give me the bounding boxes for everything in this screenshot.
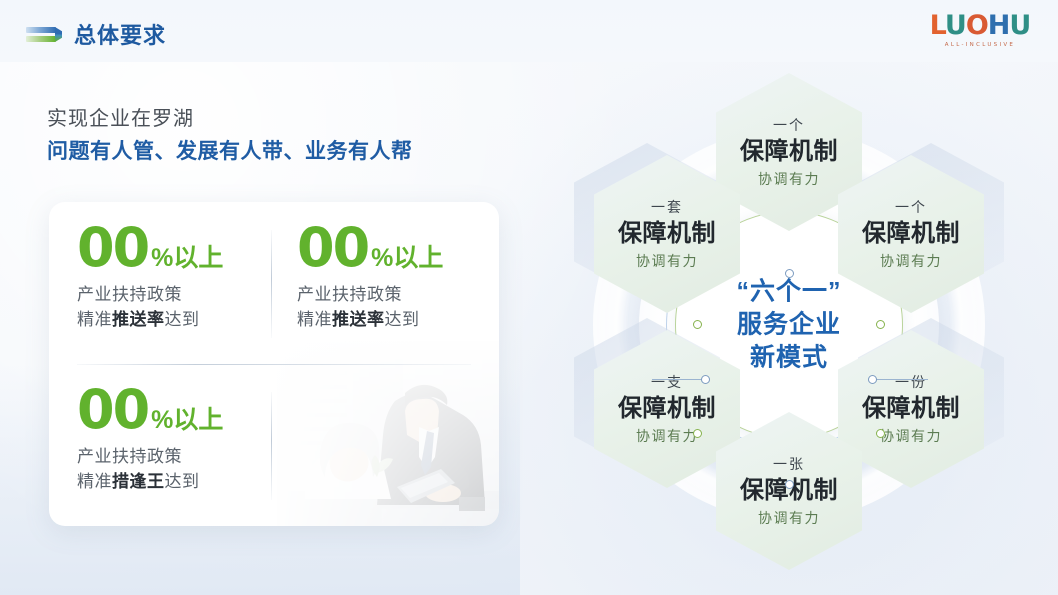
center-label-line1: “六个一”: [736, 276, 841, 309]
connector-dot-bottom: [785, 480, 794, 489]
hexagon-prefix: 一个: [773, 116, 805, 135]
hexagon-title: 保障机制: [862, 393, 960, 425]
stat-unit: %以上: [371, 244, 443, 272]
stat-desc-emphasis: 推送率: [112, 310, 165, 329]
stat-description-line1: 产业扶持政策: [77, 444, 223, 469]
connector-line-left: [652, 379, 704, 380]
stats-divider-horizontal: [77, 364, 471, 365]
business-consultation-photo: [277, 341, 499, 526]
stat-number: 00: [77, 224, 148, 272]
gradient-bar-arrow-tip: [55, 27, 62, 42]
stat-desc-prefix: 精准: [297, 310, 332, 329]
hexagon-prefix: 一套: [651, 198, 683, 217]
diagram-center-label: “六个一” 服务企业 新模式: [736, 276, 841, 375]
stat-description-line1: 产业扶持政策: [77, 282, 223, 307]
stat-unit: %以上: [151, 406, 223, 434]
stat-description: 产业扶持政策 精准推送率达到: [297, 282, 443, 332]
page-title: 总体要求: [74, 18, 166, 50]
hexagon-title: 保障机制: [618, 393, 716, 425]
hexagon-title: 保障机制: [618, 218, 716, 250]
stat-description-line1: 产业扶持政策: [297, 282, 443, 307]
center-label-line3: 新模式: [736, 342, 841, 375]
headline-main: 问题有人管、发展有人带、业务有人帮: [47, 136, 413, 168]
headline-block: 实现企业在罗湖 问题有人管、发展有人带、业务有人帮: [47, 104, 413, 168]
hexagon-subtitle: 协调有力: [636, 427, 698, 446]
stat-value-row: 00 %以上: [77, 386, 223, 434]
stat-value-row: 00 %以上: [77, 224, 223, 272]
stat-desc-prefix: 精准: [77, 310, 112, 329]
stat-desc-emphasis: 推送率: [332, 310, 385, 329]
stat-number: 00: [297, 224, 368, 272]
stats-divider-vertical-top: [271, 230, 272, 338]
connector-dot-top-left: [693, 320, 702, 329]
logo-letter-2: U: [945, 10, 966, 41]
hexagon-prefix: 一份: [895, 373, 927, 392]
connector-dot-bottom-left: [693, 429, 702, 438]
stat-description-line2: 精准措逢王达到: [77, 469, 223, 494]
hexagon-subtitle: 协调有力: [758, 509, 820, 528]
stat-desc-emphasis: 措逢王: [112, 472, 165, 491]
connector-dot-top: [785, 269, 794, 278]
logo-letter-1: L: [930, 10, 945, 41]
hexagon-title: 保障机制: [862, 218, 960, 250]
stat-desc-prefix: 精准: [77, 472, 112, 491]
hexagon-subtitle: 协调有力: [880, 252, 942, 271]
hexagon-prefix: 一个: [895, 198, 927, 217]
hexagon-title: 保障机制: [740, 136, 838, 168]
luohu-logo: LUOHU ALL-INCLUSIVE: [924, 12, 1036, 52]
stat-description: 产业扶持政策 精准推送率达到: [77, 282, 223, 332]
logo-letter-3: O: [966, 10, 988, 41]
headline-subtitle: 实现企业在罗湖: [47, 104, 413, 134]
gradient-bar-top: [26, 27, 56, 33]
hexagon-subtitle: 协调有力: [880, 427, 942, 446]
stat-desc-suffix: 达到: [165, 310, 200, 329]
hexagon-subtitle: 协调有力: [758, 170, 820, 189]
connector-dot-bottom-right: [876, 429, 885, 438]
stat-item: 00 %以上 产业扶持政策 精准推送率达到: [297, 224, 443, 332]
hexagon-subtitle: 协调有力: [636, 252, 698, 271]
stat-description: 产业扶持政策 精准措逢王达到: [77, 444, 223, 494]
stat-unit: %以上: [151, 244, 223, 272]
photo-fade-overlay: [277, 341, 499, 526]
hexagon-diagram: “六个一” 服务企业 新模式 一个 保障机制 协调有力 一套 保障机制 协调有力…: [520, 55, 1058, 595]
hexagon-prefix: 一张: [773, 455, 805, 474]
hexagon-prefix: 一支: [651, 373, 683, 392]
connector-dot-right: [868, 375, 877, 384]
gradient-bar-icon: [26, 26, 62, 44]
slide-canvas: 总体要求 LUOHU ALL-INCLUSIVE 实现企业在罗湖 问题有人管、发…: [0, 0, 1058, 595]
connector-dot-left: [701, 375, 710, 384]
stats-card: 00 %以上 产业扶持政策 精准推送率达到 00 %以上 产业扶持政策 精准推送…: [49, 202, 499, 526]
logo-wordmark: LUOHU: [924, 12, 1036, 40]
logo-letter-5: U: [1009, 10, 1030, 41]
stats-divider-vertical-bottom: [271, 392, 272, 500]
stat-item: 00 %以上 产业扶持政策 精准推送率达到: [77, 224, 223, 332]
stat-value-row: 00 %以上: [297, 224, 443, 272]
connector-dot-top-right: [876, 320, 885, 329]
gradient-bar-bottom: [26, 36, 56, 42]
stat-description-line2: 精准推送率达到: [77, 307, 223, 332]
connector-line-right: [876, 379, 928, 380]
logo-letter-4: H: [988, 10, 1010, 41]
stat-desc-suffix: 达到: [385, 310, 420, 329]
center-label-line2: 服务企业: [736, 309, 841, 342]
stat-number: 00: [77, 386, 148, 434]
stat-desc-suffix: 达到: [165, 472, 200, 491]
logo-tagline: ALL-INCLUSIVE: [924, 42, 1036, 48]
stat-description-line2: 精准推送率达到: [297, 307, 443, 332]
slide-header: 总体要求 LUOHU ALL-INCLUSIVE: [0, 0, 1058, 62]
stat-item: 00 %以上 产业扶持政策 精准措逢王达到: [77, 386, 223, 494]
